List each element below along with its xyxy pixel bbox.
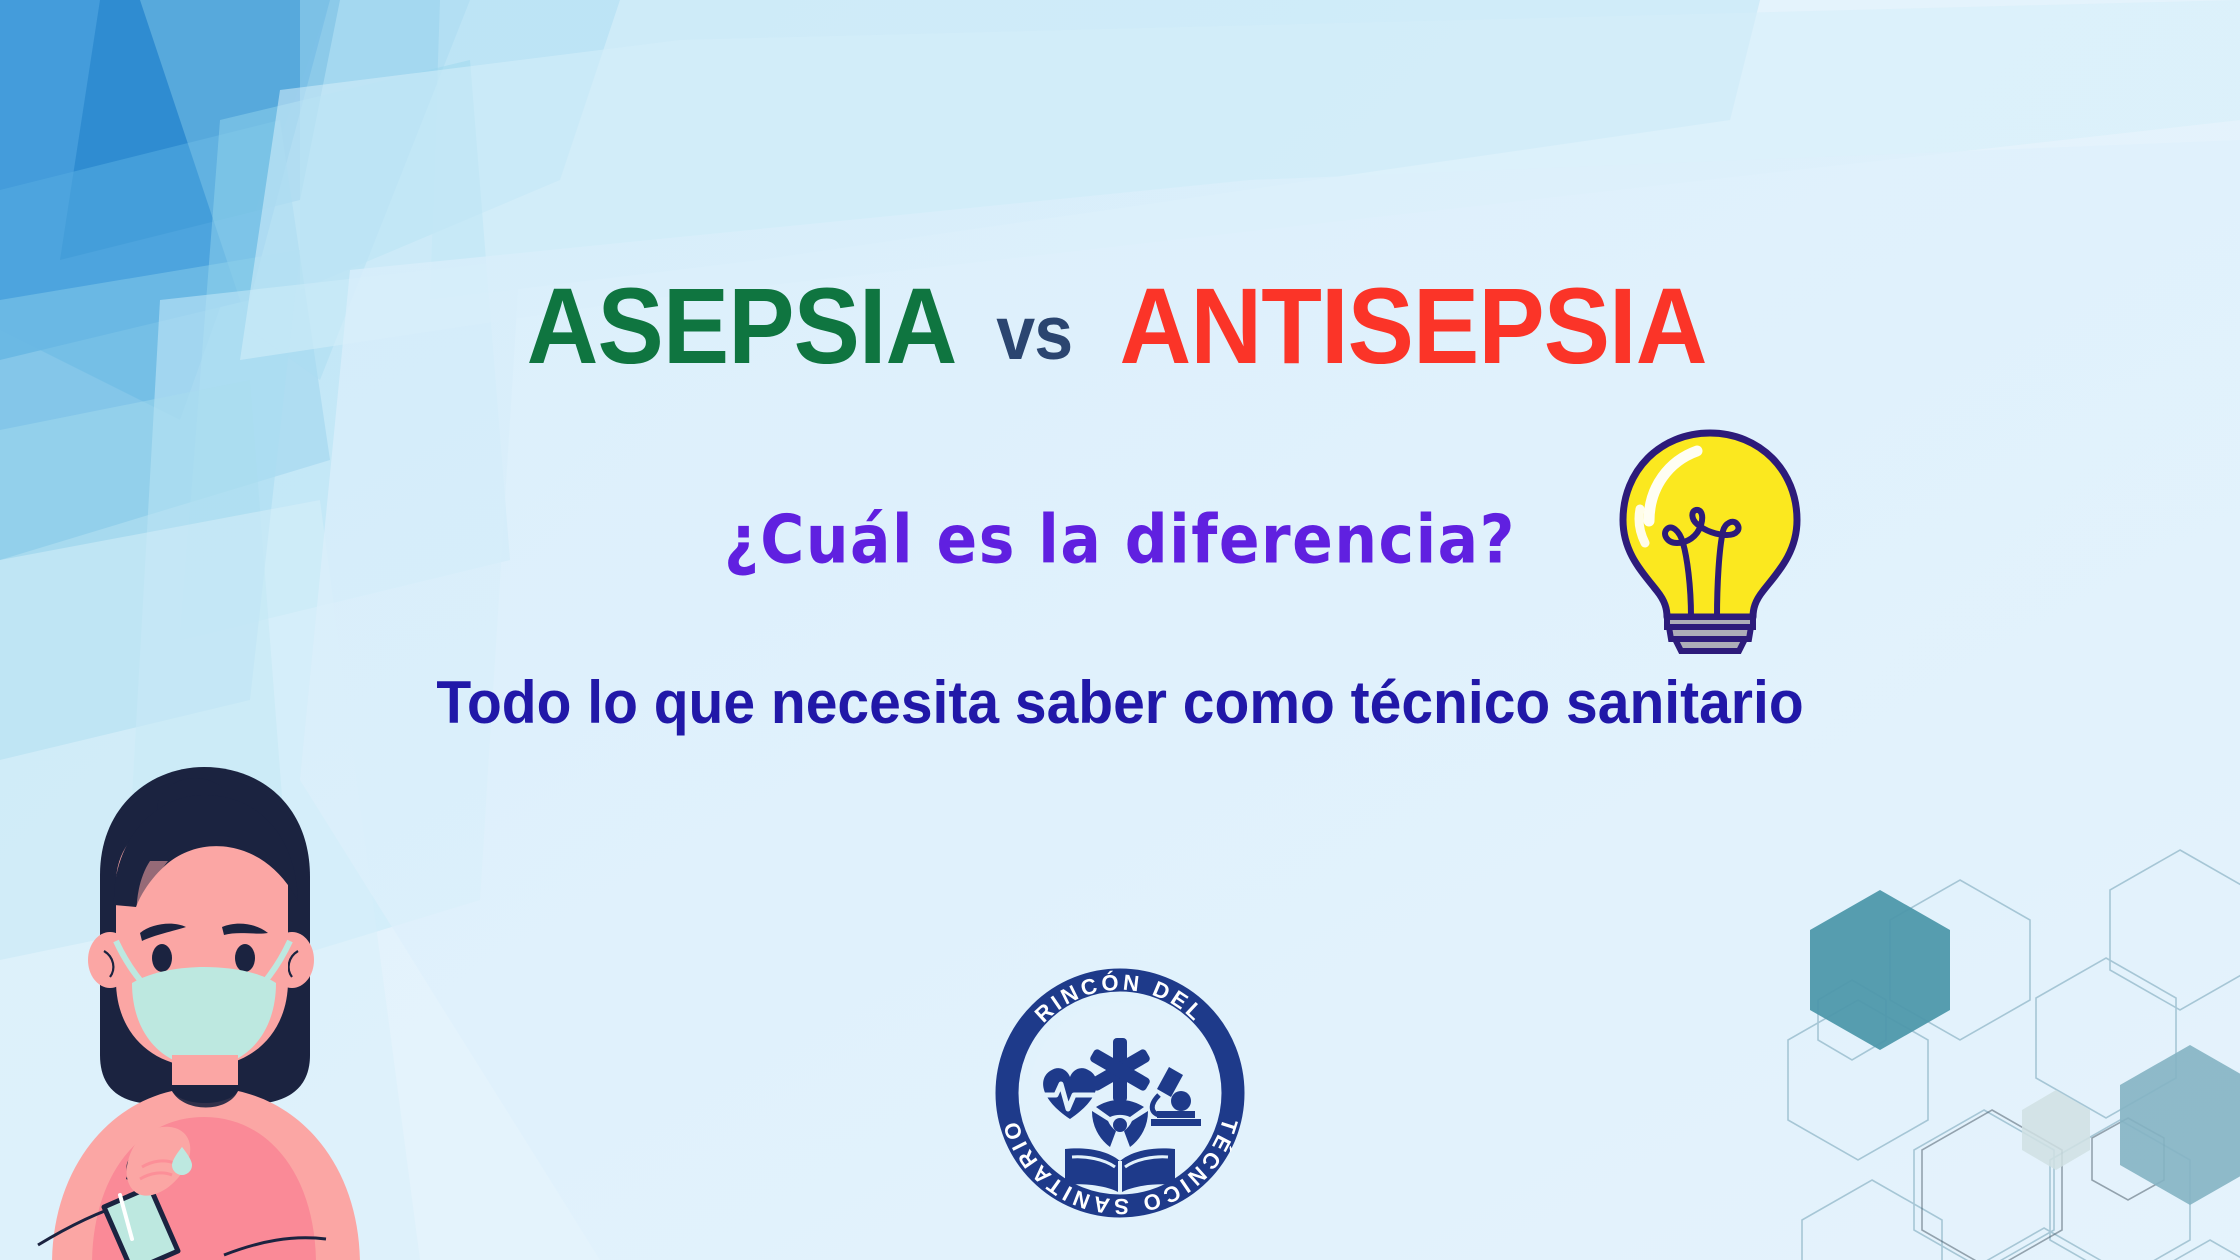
lightbulb-icon [1605,425,1815,655]
subtitle-tagline: Todo lo que necesita saber como técnico … [56,668,2184,737]
subtitle-question: ¿Cuál es la diferencia? [0,501,2240,579]
woman-with-mask-spray-bottle-illustration [0,755,412,1260]
title-connector-vs: vs [980,296,1089,372]
banner-canvas: ASEPSIAvsANTISEPSIA ¿Cuál es la diferenc… [0,0,2240,1260]
title-word-antisepsia: ANTISEPSIA [1119,272,1706,380]
rincon-del-tecnico-sanitario-logo[interactable]: RINCÓN DEL TÉCNICO SANITARIO [995,965,1245,1260]
title-word-asepsia: ASEPSIA [527,272,957,380]
main-title: ASEPSIAvsANTISEPSIA [0,272,2240,380]
